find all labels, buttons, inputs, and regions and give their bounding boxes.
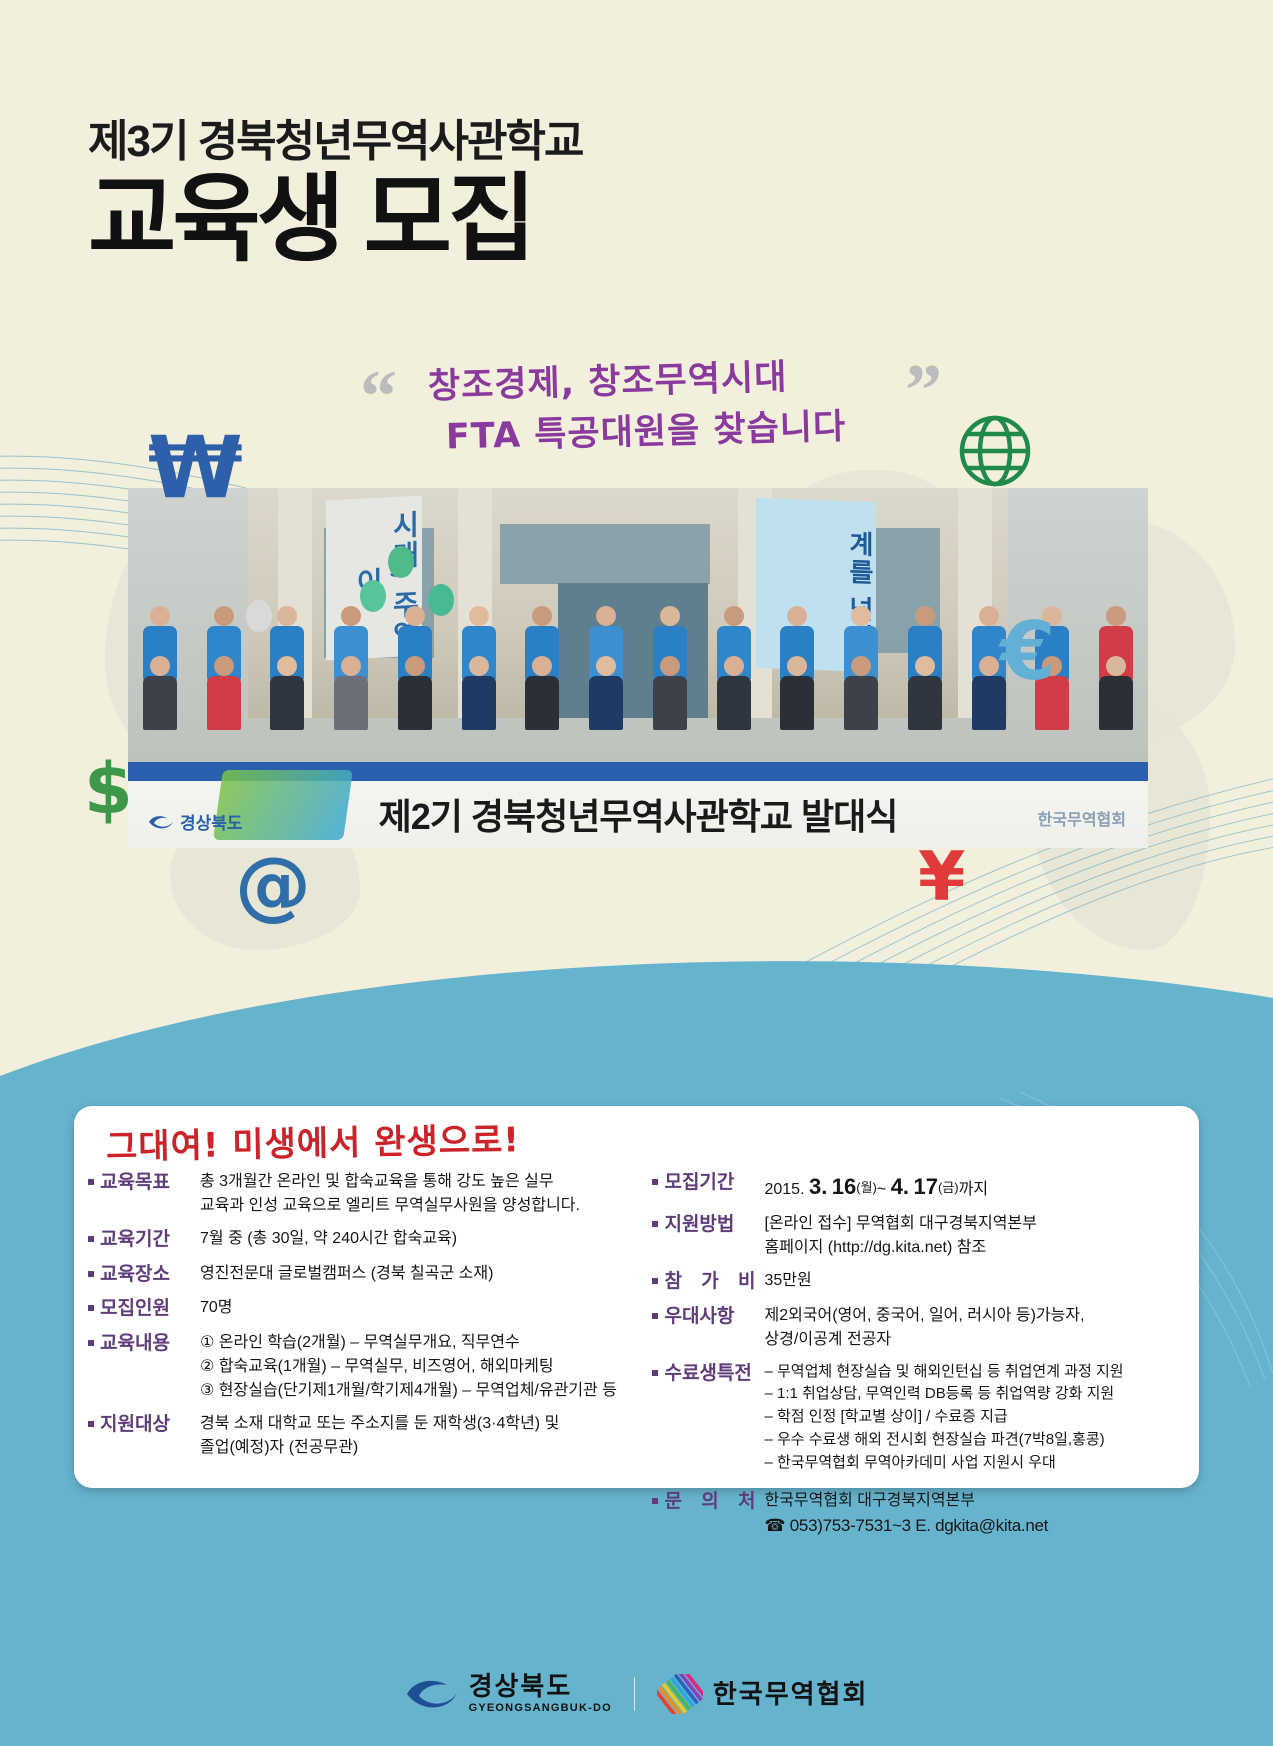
poster-header: 제3기 경북청년무역사관학교 교육생 모집 (88, 118, 582, 271)
footer-logo-divider (634, 1677, 635, 1711)
tagline-line-2: FTA 특공대원을 찾습니다 (445, 400, 898, 463)
photo-banner-text: 제2기 경북청년무역사관학교 발대식 (128, 788, 1148, 840)
footer-logo2-name: 한국무역협회 (713, 1681, 869, 1707)
yen-currency-icon: ¥ (918, 838, 965, 917)
kita-mark-icon (657, 1674, 703, 1714)
info-value: – 무역업체 현장실습 및 해외인턴십 등 취업연계 과정 지원 – 1:1 취… (764, 1361, 1123, 1475)
gyeongsangbuk-mark-icon (148, 813, 174, 831)
info-label: 수료생특전 (652, 1361, 764, 1387)
footer-logo-kita: 한국무역협회 (657, 1674, 869, 1714)
bullet-icon (652, 1498, 658, 1504)
info-left-column: 교육목표 총 3개월간 온라인 및 합숙교육을 통해 강도 높은 실무 교육과 … (88, 1170, 634, 1547)
info-row-education-period: 교육기간 7월 중 (총 30일, 약 240시간 합숙교육) (88, 1227, 634, 1253)
won-currency-icon: ₩ (148, 418, 243, 518)
info-label: 지원방법 (652, 1212, 764, 1238)
bullet-icon (88, 1271, 94, 1277)
info-value: 2015. 3. 16(월)~ 4. 17(금)까지 (764, 1170, 988, 1203)
bullet-icon (652, 1179, 658, 1185)
info-value: 영진전문대 글로벌캠퍼스 (경북 칠곡군 소재) (200, 1262, 493, 1286)
info-card: 그대여! 미생에서 완생으로! 교육목표 총 3개월간 온라인 및 합숙교육을 … (74, 1106, 1199, 1488)
info-row-how-to-apply: 지원방법 [온라인 접수] 무역협회 대구경북지역본부 홈페이지 (http:/… (652, 1212, 1189, 1260)
bullet-icon (88, 1340, 94, 1346)
info-label: 교육내용 (88, 1331, 200, 1357)
info-label: 우대사항 (652, 1304, 764, 1330)
info-label: 교육장소 (88, 1262, 200, 1288)
info-label: 모집기간 (652, 1170, 764, 1196)
poster-subtitle: 제3기 경북청년무역사관학교 (88, 118, 582, 166)
photo-logo-kita: 한국무역협회 (1038, 806, 1126, 830)
bullet-icon (88, 1236, 94, 1242)
bullet-icon (652, 1313, 658, 1319)
dollar-currency-icon: $ (84, 748, 133, 830)
page-title: 교육생 모집 (88, 170, 582, 271)
info-label: 지원대상 (88, 1412, 200, 1438)
info-row-education-goal: 교육목표 총 3개월간 온라인 및 합숙교육을 통해 강도 높은 실무 교육과 … (88, 1170, 634, 1218)
photo-logo-gyeongsangbuk: 경상북도 (148, 809, 243, 834)
tagline-block: “ ” 창조경제, 창조무역시대 FTA 특공대원을 찾습니다 (360, 362, 880, 464)
info-value: 7월 중 (총 30일, 약 240시간 합숙교육) (200, 1227, 457, 1251)
info-label: 교육목표 (88, 1170, 200, 1196)
photo-crowd-front-row (128, 656, 1148, 730)
info-value: ① 온라인 학습(2개월) – 무역실무개요, 직무연수 ② 합숙교육(1개월)… (200, 1331, 617, 1403)
poster-root: 제3기 경북청년무역사관학교 교육생 모집 “ ” 창조경제, 창조무역시대 F… (0, 0, 1273, 1746)
bullet-icon (652, 1221, 658, 1227)
footer-logo-gyeongsangbuk: 경상북도 GYEONGSANGBUK-DO (405, 1673, 612, 1714)
application-website-link[interactable]: 홈페이지 (http://dg.kita.net) 참조 (764, 1236, 1036, 1260)
bullet-icon (88, 1305, 94, 1311)
bullet-icon (88, 1421, 94, 1427)
info-value: 35만원 (764, 1269, 811, 1293)
info-value: 70명 (200, 1296, 233, 1320)
gyeongsangbuk-mark-icon (405, 1675, 459, 1713)
application-date-range: 2015. 3. 16(월)~ 4. 17(금)까지 (764, 1181, 988, 1198)
photo-banner-table: 제2기 경북청년무역사관학교 발대식 경상북도 한국무역협회 (128, 762, 1148, 848)
footer-logos: 경상북도 GYEONGSANGBUK-DO 한국무역협회 (0, 1673, 1273, 1714)
info-row-education-venue: 교육장소 영진전문대 글로벌캠퍼스 (경북 칠곡군 소재) (88, 1262, 634, 1288)
info-row-preferences: 우대사항 제2외국어(영어, 중국어, 일어, 러시아 등)가능자, 상경/이공… (652, 1304, 1189, 1352)
info-value: 제2외국어(영어, 중국어, 일어, 러시아 등)가능자, 상경/이공계 전공자 (764, 1304, 1084, 1352)
globe-icon (958, 414, 1032, 488)
quote-open-icon: “ (360, 368, 397, 427)
euro-currency-icon: € (1000, 605, 1056, 698)
quote-close-icon: ” (905, 362, 942, 421)
bullet-icon (652, 1278, 658, 1284)
info-label: 참 가 비 (652, 1269, 764, 1295)
footer-logo1-name: 경상북도 (469, 1673, 612, 1699)
info-row-eligibility: 지원대상 경북 소재 대학교 또는 주소지를 둔 재학생(3·4학년) 및 졸업… (88, 1412, 634, 1460)
bullet-icon (88, 1179, 94, 1185)
info-value: 경북 소재 대학교 또는 주소지를 둔 재학생(3·4학년) 및 졸업(예정)자… (200, 1412, 559, 1460)
info-row-fee: 참 가 비 35만원 (652, 1269, 1189, 1295)
info-row-curriculum: 교육내용 ① 온라인 학습(2개월) – 무역실무개요, 직무연수 ② 합숙교육… (88, 1331, 634, 1403)
photo-logo-gb-text: 경상북도 (180, 809, 243, 834)
info-label: 문 의 처 (652, 1489, 764, 1515)
info-value: [온라인 접수] 무역협회 대구경북지역본부 홈페이지 (http://dg.k… (764, 1212, 1036, 1260)
info-value: 한국무역협회 대구경북지역본부 ☎ 053)753-7531~3 E. dgki… (764, 1489, 1048, 1539)
info-label: 모집인원 (88, 1296, 200, 1322)
info-row-contact: 문 의 처 한국무역협회 대구경북지역본부 ☎ 053)753-7531~3 E… (652, 1489, 1189, 1539)
info-card-heading: 그대여! 미생에서 완생으로! (106, 1112, 521, 1168)
footer-logo1-roman: GYEONGSANGBUK-DO (469, 1703, 612, 1714)
contact-phone-email[interactable]: ☎ 053)753-7531~3 E. dgkita@kita.net (764, 1513, 1048, 1539)
info-row-application-period: 모집기간 2015. 3. 16(월)~ 4. 17(금)까지 (652, 1170, 1189, 1203)
info-row-recruit-count: 모집인원 70명 (88, 1296, 634, 1322)
info-right-column: 모집기간 2015. 3. 16(월)~ 4. 17(금)까지 지원방법 [온라… (642, 1170, 1189, 1547)
info-label: 교육기간 (88, 1227, 200, 1253)
info-value: 총 3개월간 온라인 및 합숙교육을 통해 강도 높은 실무 교육과 인성 교육… (200, 1170, 580, 1218)
bullet-icon (652, 1370, 658, 1376)
event-photo: 시대, 주역이 계를 넘어 (128, 488, 1148, 848)
info-row-graduate-benefits: 수료생특전 – 무역업체 현장실습 및 해외인턴십 등 취업연계 과정 지원 –… (652, 1361, 1189, 1475)
at-sign-icon: @ (235, 840, 311, 929)
